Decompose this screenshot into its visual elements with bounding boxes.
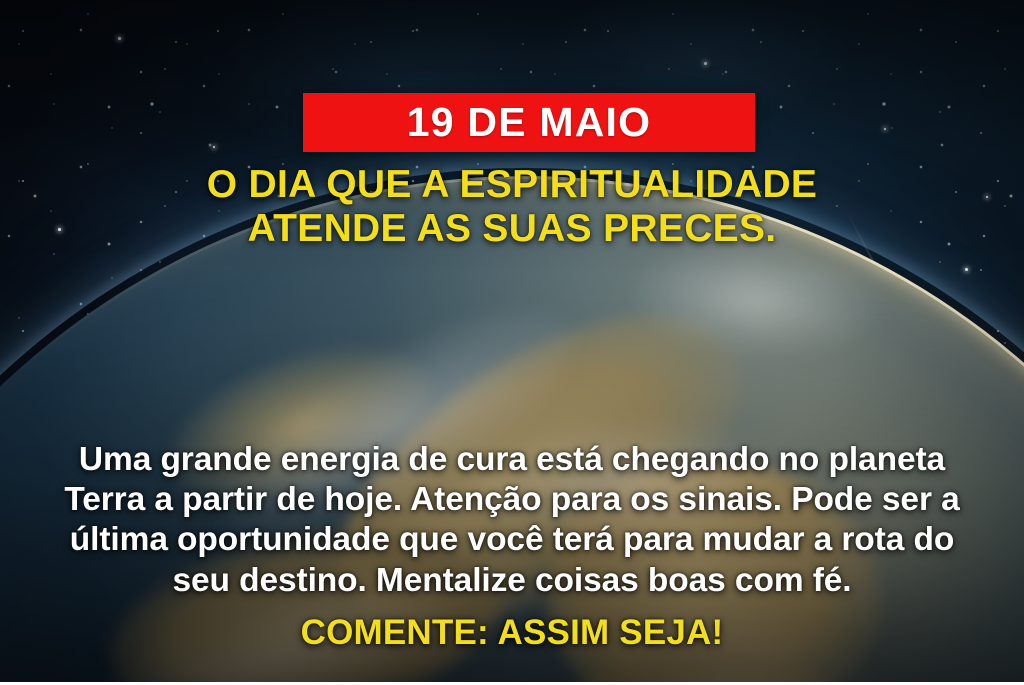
poster-content: 19 DE MAIO O DIA QUE A ESPIRITUALIDADE A… [0, 0, 1024, 685]
date-banner: 19 DE MAIO [303, 93, 755, 152]
poster: 19 DE MAIO O DIA QUE A ESPIRITUALIDADE A… [0, 0, 1024, 685]
date-banner-label: 19 DE MAIO [407, 102, 651, 143]
call-to-action-text: COMENTE: ASSIM SEJA! [0, 613, 1024, 653]
page-title: O DIA QUE A ESPIRITUALIDADE ATENDE AS SU… [0, 163, 1024, 250]
body-paragraph: Uma grande energia de cura está chegando… [46, 440, 978, 601]
